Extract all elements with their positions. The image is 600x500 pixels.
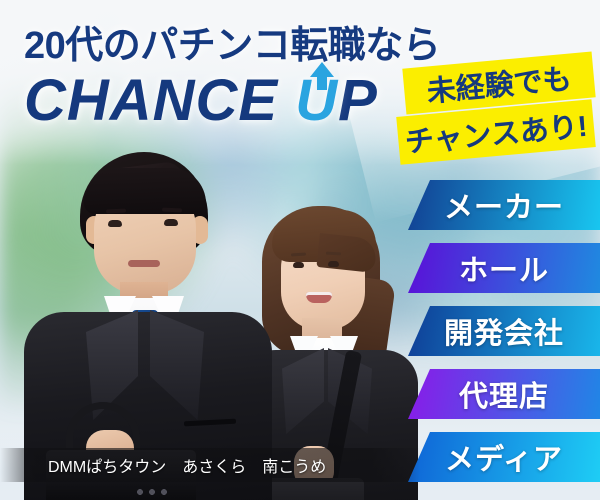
woman-eye-right	[328, 261, 339, 267]
headline-block: 20代のパチンコ転職なら CHANCE UP	[24, 14, 440, 132]
banner-ad[interactable]: 20代のパチンコ転職なら CHANCE UP 未経験でも チャンスあり! メーカ…	[0, 0, 600, 500]
man-briefcase-studs	[134, 488, 170, 497]
credit-text: DMMぱちタウン あさくら 南こうめ	[48, 453, 326, 477]
man-fringe	[84, 168, 206, 214]
category-banner-developer[interactable]: 開発会社	[408, 306, 600, 356]
man-eye-left	[108, 220, 122, 227]
man-eye-right	[164, 219, 178, 226]
category-label-maker: メーカー	[444, 184, 564, 226]
category-banner-maker[interactable]: メーカー	[408, 180, 600, 230]
man-smile	[128, 260, 160, 267]
headline-line-1: 20代のパチンコ転職なら	[24, 14, 440, 69]
credit-bar: DMMぱちタウン あさくら 南こうめ	[0, 448, 600, 482]
experience-badge: 未経験でも チャンスあり!	[398, 56, 596, 164]
headline-line-2: CHANCE UP	[24, 71, 440, 132]
woman-smile	[306, 292, 332, 303]
chance-word: CHANCE	[24, 68, 295, 133]
arrow-up-icon	[309, 61, 335, 91]
woman-fringe	[272, 210, 376, 262]
people-photo-group	[0, 140, 430, 500]
up-p-letter: P	[338, 68, 378, 133]
category-banner-hall[interactable]: ホール	[408, 243, 600, 293]
category-label-hall: ホール	[459, 247, 549, 289]
category-banner-agency[interactable]: 代理店	[408, 369, 600, 419]
up-u-letter: U	[295, 71, 338, 132]
category-label-agency: 代理店	[459, 373, 549, 415]
woman-eye-left	[293, 262, 304, 268]
category-label-developer: 開発会社	[444, 310, 564, 352]
